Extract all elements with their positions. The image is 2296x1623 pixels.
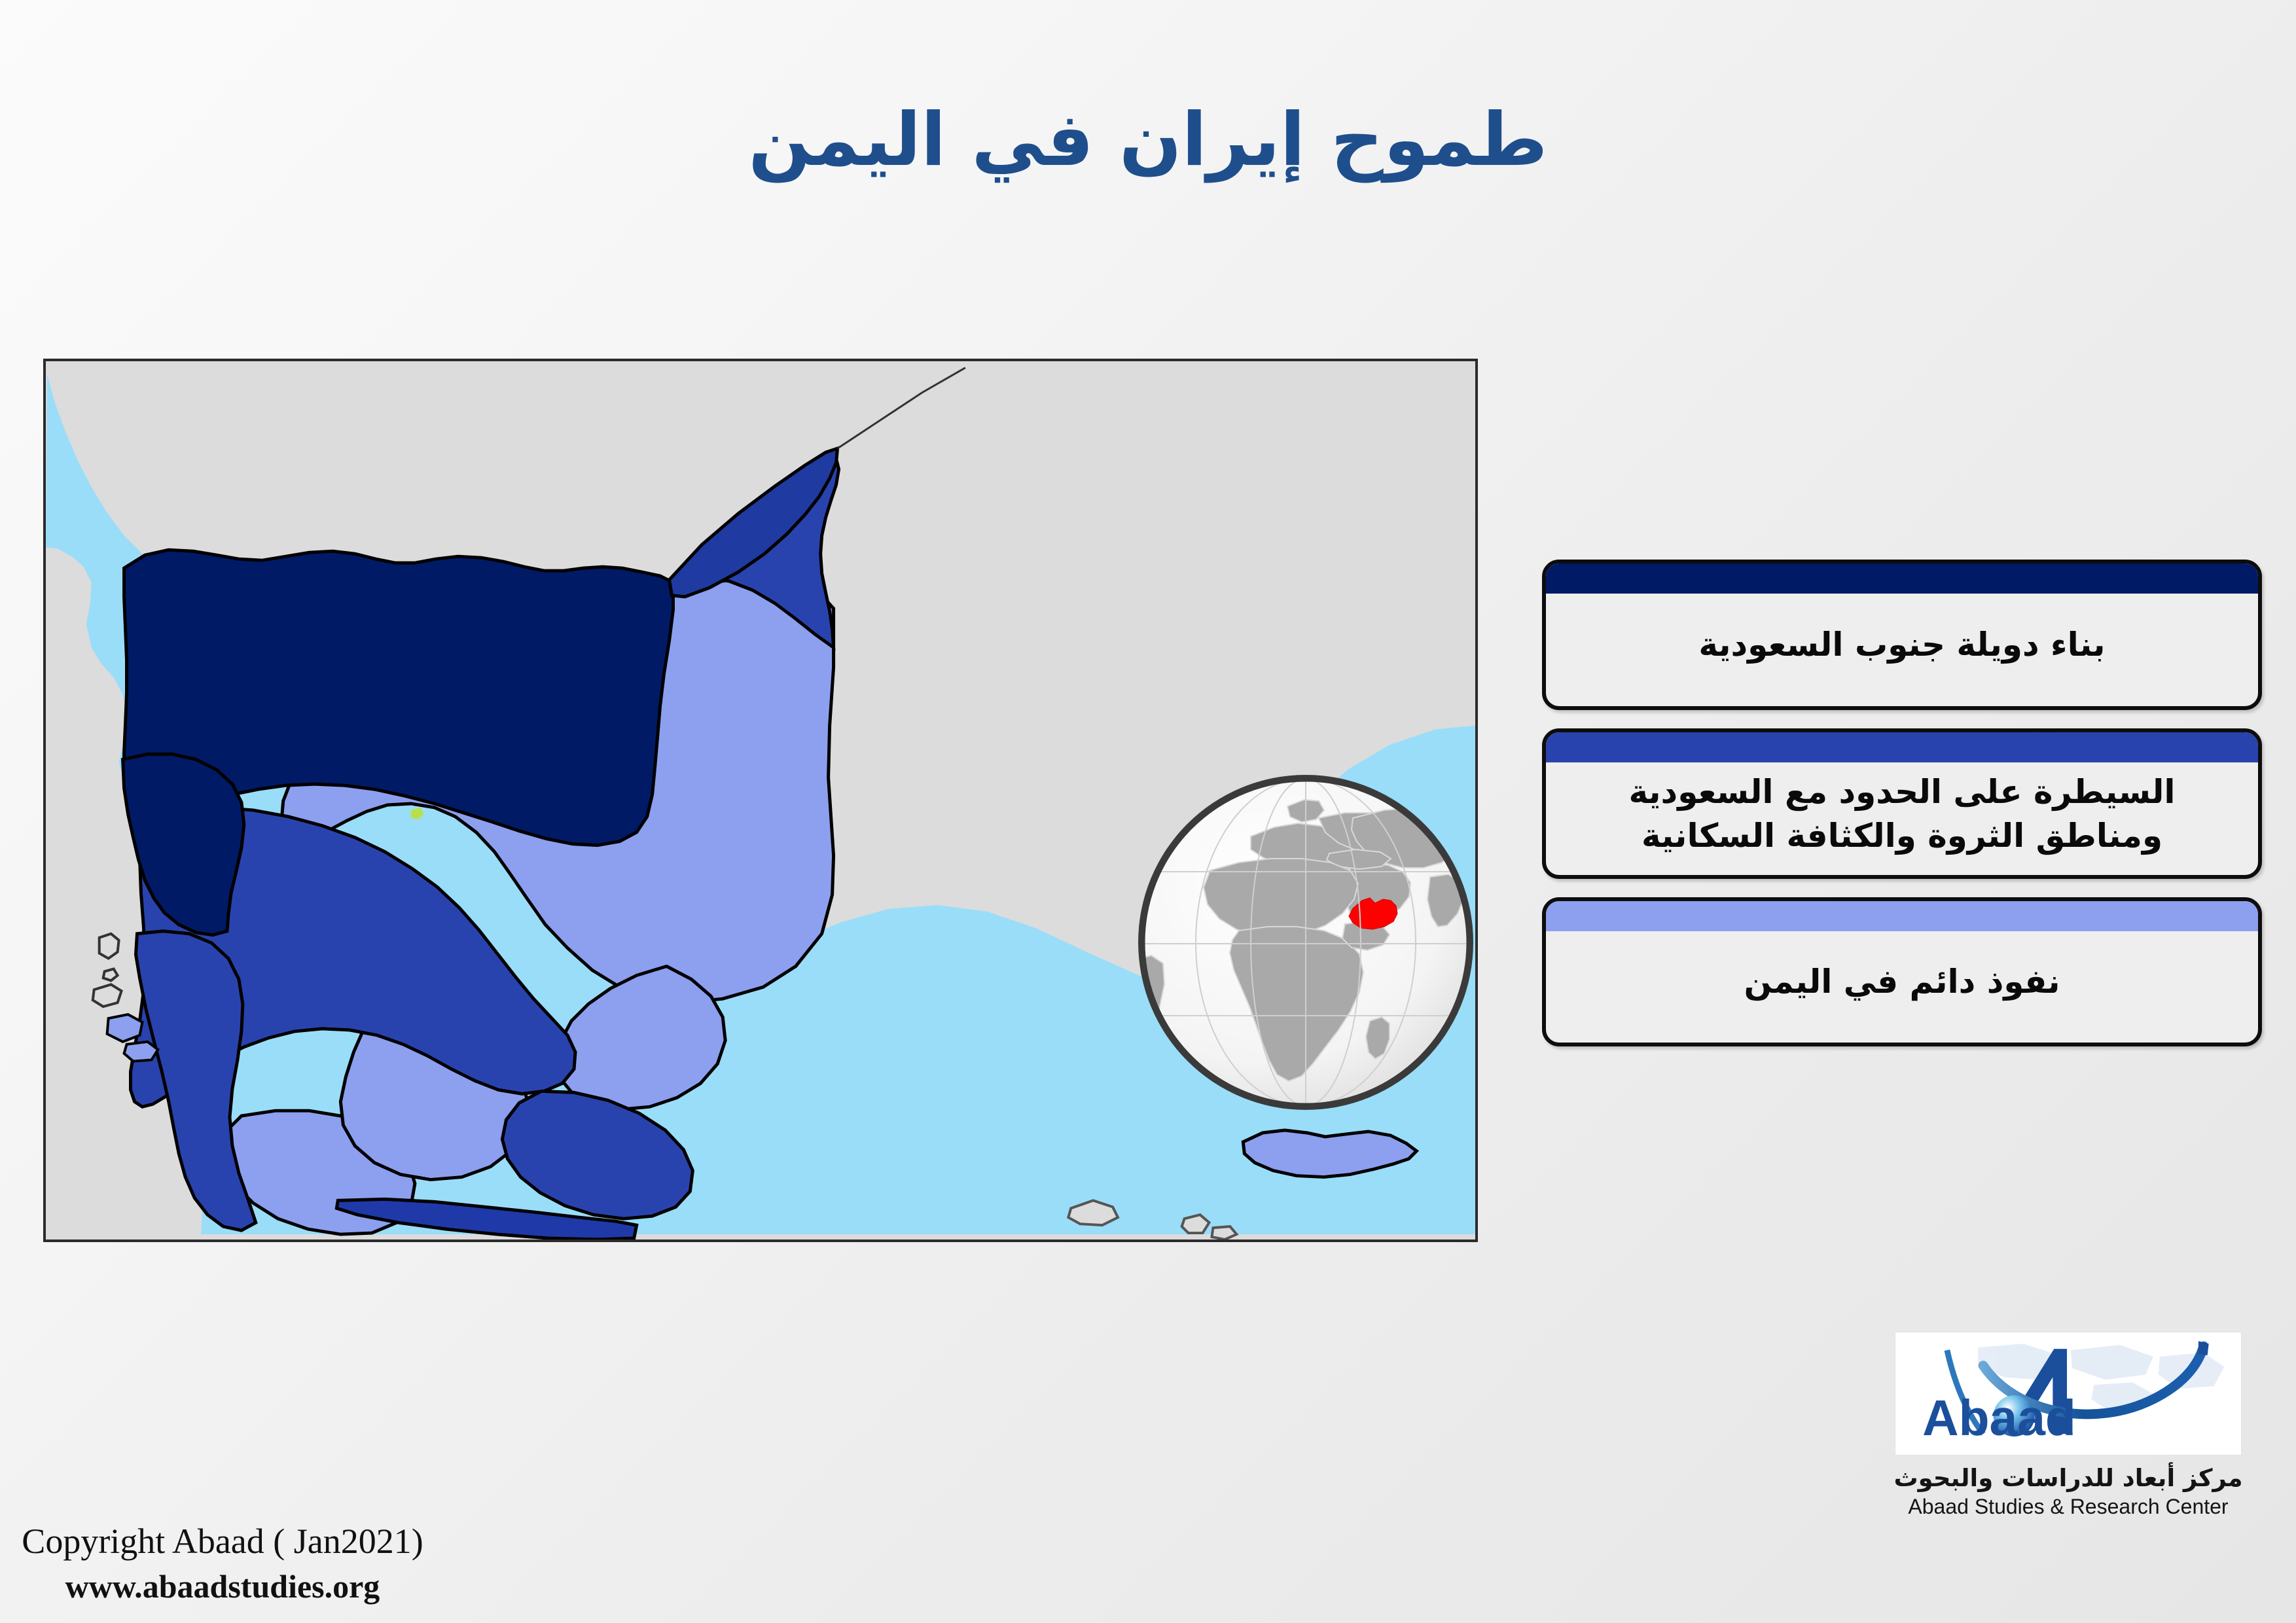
legend-swatch-light-periwinkle	[1546, 901, 2258, 931]
legend-body: السيطرة على الحدود مع السعودية ومناطق ال…	[1546, 762, 2258, 875]
legend-body: نفوذ دائم في اليمن	[1546, 931, 2258, 1043]
copyright-block: Copyright Abaad ( Jan2021) www.abaadstud…	[20, 1518, 425, 1608]
island-small-b	[93, 984, 122, 1007]
legend-card[interactable]: نفوذ دائم في اليمن	[1542, 897, 2262, 1046]
legend-label: نفوذ دائم في اليمن	[1744, 960, 2060, 1005]
island-perim-2	[124, 1042, 158, 1061]
legend-swatch-dark-navy	[1546, 563, 2258, 594]
legend-card[interactable]: بناء دويلة جنوب السعودية	[1542, 560, 2262, 710]
logo-wordmark: Abaad	[1922, 1390, 2076, 1446]
logo-frame: Abaad	[1895, 1332, 2242, 1455]
infographic-page: طموح إيران في اليمن	[0, 0, 2296, 1623]
legend-line-1: السيطرة على الحدود مع السعودية	[1628, 773, 2175, 811]
legend-label: بناء دويلة جنوب السعودية	[1698, 623, 2105, 668]
legend-swatch-medium-blue	[1546, 732, 2258, 762]
legend: بناء دويلة جنوب السعودية السيطرة على الح…	[1542, 560, 2262, 1065]
legend-body: بناء دويلة جنوب السعودية	[1546, 594, 2258, 706]
legend-line-2: ومناطق الثروة والكثافة السكانية	[1628, 814, 2175, 859]
logo-block: Abaad مركز أبعاد للدراسات والبحوث Abaad …	[1885, 1332, 2251, 1521]
abaad-logo-icon: Abaad	[1901, 1336, 2236, 1451]
legend-line-1: نفوذ دائم في اليمن	[1744, 963, 2060, 1001]
yemen-map	[46, 361, 1475, 1240]
legend-label: السيطرة على الحدود مع السعودية ومناطق ال…	[1628, 770, 2175, 859]
logo-arabic-name: مركز أبعاد للدراسات والبحوث	[1885, 1463, 2251, 1493]
page-title: طموح إيران في اليمن	[0, 98, 2296, 183]
island-perim	[107, 1014, 143, 1042]
copyright-text: Copyright Abaad ( Jan2021)	[20, 1518, 425, 1565]
map-panel	[43, 359, 1478, 1242]
logo-english-name: Abaad Studies & Research Center	[1885, 1493, 2251, 1521]
island-samha	[1182, 1215, 1210, 1233]
legend-card[interactable]: السيطرة على الحدود مع السعودية ومناطق ال…	[1542, 728, 2262, 879]
legend-line-1: بناء دويلة جنوب السعودية	[1698, 626, 2105, 664]
website-link[interactable]: www.abaadstudies.org	[20, 1565, 425, 1608]
